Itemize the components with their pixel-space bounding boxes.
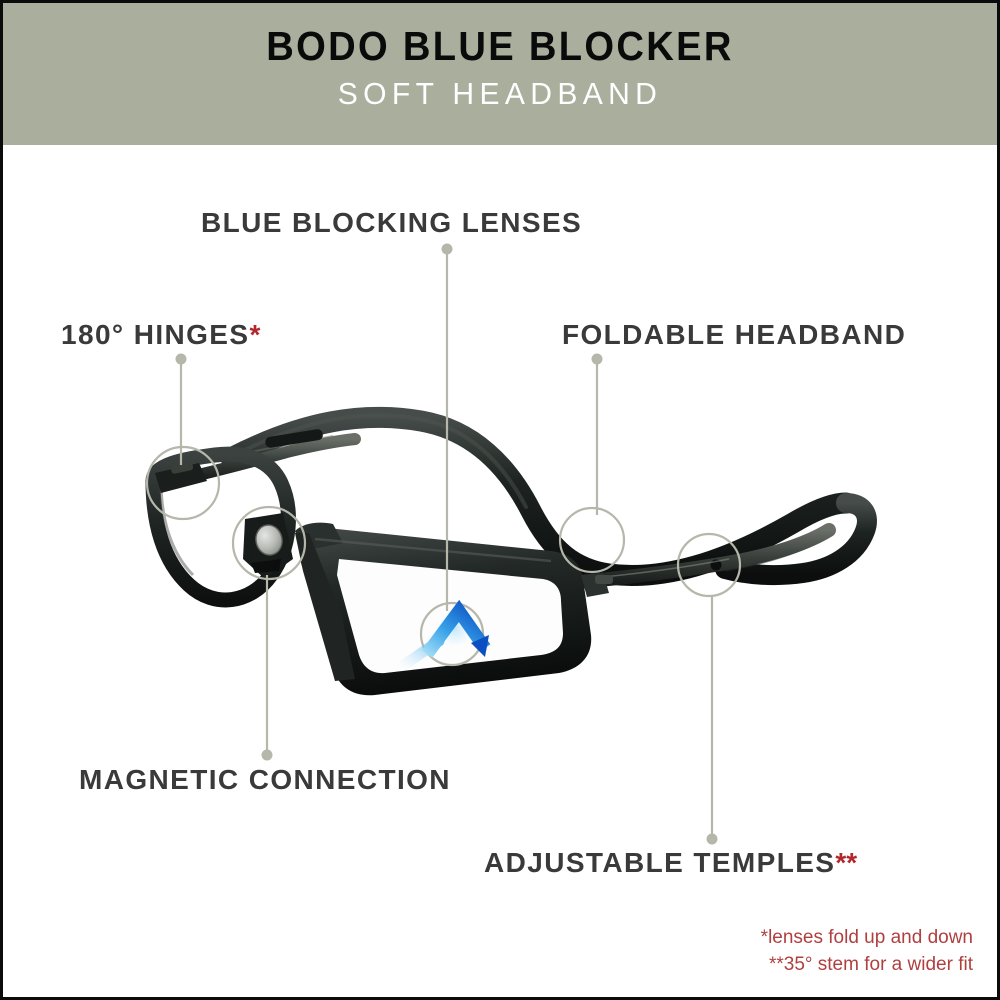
- front-frame: [295, 523, 613, 696]
- infographic-page: BODO BLUE BLOCKER SOFT HEADBAND: [0, 0, 1000, 1000]
- callout-label-foldable-headband: FOLDABLE HEADBAND: [562, 321, 906, 349]
- rear-lens-rim: [153, 454, 288, 600]
- anchor-circle-temples: [678, 534, 740, 596]
- headband-fold-loop: [725, 503, 867, 575]
- left-hinge-block: [155, 462, 207, 493]
- blue-light-arrow-icon: [401, 609, 489, 667]
- anchor-circle-hinges: [147, 447, 219, 519]
- headband-strap: [231, 415, 846, 575]
- callout-label-hinges: 180° HINGES*: [61, 321, 260, 349]
- footnote-line-2: **35° stem for a wider fit: [761, 952, 973, 979]
- anchor-circle-foldable: [560, 508, 624, 572]
- callout-text: ADJUSTABLE TEMPLES: [484, 847, 835, 878]
- page-subtitle: SOFT HEADBAND: [18, 68, 982, 111]
- magnetic-connector: [243, 513, 293, 579]
- left-temple-arm: [181, 429, 355, 479]
- callout-asterisk: **: [835, 847, 857, 878]
- callout-text: FOLDABLE HEADBAND: [562, 319, 906, 350]
- anchor-circle-magnetic: [233, 507, 305, 579]
- callout-text: MAGNETIC CONNECTION: [79, 764, 451, 795]
- header-band: BODO BLUE BLOCKER SOFT HEADBAND: [3, 3, 997, 145]
- page-title: BODO BLUE BLOCKER: [38, 3, 962, 68]
- footnote-line-1: *lenses fold up and down: [761, 925, 973, 952]
- callout-asterisk: *: [249, 319, 260, 350]
- callout-text: 180° HINGES: [61, 319, 249, 350]
- callout-text: BLUE BLOCKING LENSES: [201, 207, 582, 238]
- footnotes: *lenses fold up and down **35° stem for …: [761, 925, 973, 979]
- callout-label-adjustable-temples: ADJUSTABLE TEMPLES**: [484, 849, 857, 877]
- callout-label-blue-blocking-lenses: BLUE BLOCKING LENSES: [201, 209, 582, 237]
- right-temple-arm: [568, 530, 829, 583]
- callout-label-magnetic-connection: MAGNETIC CONNECTION: [79, 766, 451, 794]
- anchor-circle-lenses: [421, 603, 483, 665]
